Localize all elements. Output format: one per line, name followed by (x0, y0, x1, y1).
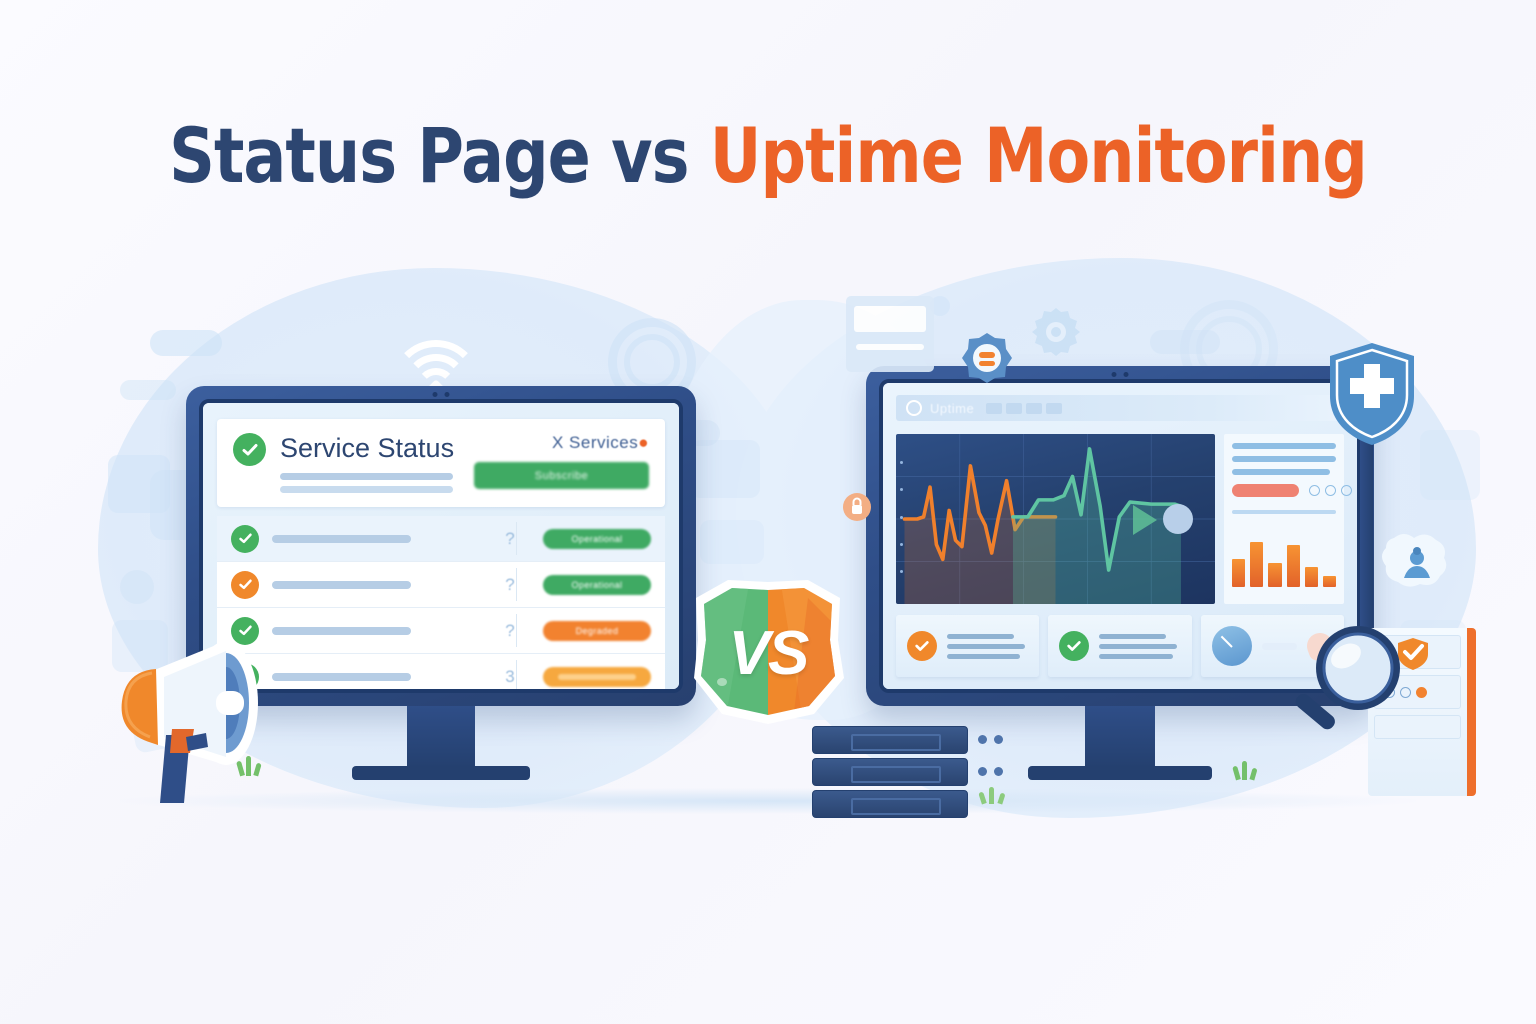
monitor-neck (407, 706, 475, 768)
check-circle-icon (233, 433, 266, 466)
alert-row (1232, 482, 1336, 500)
status-dots (1309, 485, 1352, 496)
skeleton-line (1232, 469, 1330, 475)
check-circle-icon (907, 631, 937, 661)
skeleton-line (280, 473, 453, 480)
check-circle-icon (231, 571, 259, 599)
alert-bar (1232, 484, 1299, 497)
axis-tick (900, 570, 903, 573)
check-circle-icon (1059, 631, 1089, 661)
shield-plus-icon (1326, 340, 1418, 448)
circle-icon (906, 400, 922, 416)
grass-decor (1232, 760, 1262, 780)
status-card[interactable] (1048, 615, 1191, 677)
row-label-skeleton (272, 581, 477, 589)
monitor-neck (1085, 706, 1155, 768)
skeleton-line (280, 486, 453, 493)
monitor-base (352, 766, 530, 780)
monitor-camera (1112, 372, 1129, 377)
dashboard-body (896, 434, 1344, 604)
status-page-header: Service Status X Services● Subscribe (217, 419, 665, 507)
top-bar-blocks (986, 403, 1062, 414)
card-text-skeleton (947, 629, 1028, 664)
axis-tick (900, 543, 903, 546)
title-part-status-page: Status Page (169, 111, 590, 200)
axis-tick (900, 516, 903, 519)
title-part-uptime-monitoring: Uptime Monitoring (710, 111, 1367, 200)
row-divider (516, 568, 517, 601)
row-divider (516, 522, 517, 555)
service-status-heading: Service Status (280, 435, 460, 462)
card-text-skeleton (1099, 629, 1180, 664)
brand-prefix: X (552, 433, 564, 452)
doc-line (856, 344, 924, 350)
page-title: Status Page vs Uptime Monitoring (54, 118, 1482, 194)
row-value: ? (490, 575, 530, 595)
row-value: ? (490, 529, 530, 549)
brand-label: X Services● (474, 433, 649, 453)
megaphone-icon (60, 625, 320, 815)
status-page-brand-block: X Services● Subscribe (474, 431, 649, 489)
document-card-decor (846, 296, 934, 372)
cloud-silhouette (1150, 330, 1220, 354)
chart-marker-dot (1163, 504, 1193, 534)
monitoring-dashboard-screen: Uptime (883, 383, 1357, 689)
check-circle-icon (231, 525, 259, 553)
status-badge (543, 667, 651, 687)
settings-badge-icon (959, 330, 1015, 386)
server-unit (812, 726, 968, 754)
gauge-icon (1212, 626, 1252, 666)
row-label-skeleton (272, 535, 477, 543)
row-divider (516, 614, 517, 647)
server-unit (812, 758, 968, 786)
mini-bar-chart (1232, 525, 1336, 587)
brand-text: Services (569, 433, 638, 452)
dashboard-cards (896, 615, 1344, 677)
table-row[interactable]: ? Operational (217, 562, 665, 608)
status-page-heading-block: Service Status (280, 431, 460, 493)
skeleton-line (1232, 443, 1336, 449)
monitor-base (1028, 766, 1212, 780)
skeleton-line (1232, 510, 1336, 514)
row-value: ? (490, 621, 530, 641)
status-badge: Operational (543, 529, 651, 549)
dashboard-top-bar: Uptime (896, 395, 1344, 421)
status-badge: Degraded (543, 621, 651, 641)
cloud-silhouette (120, 380, 176, 400)
dashboard-side-panel (1224, 434, 1344, 604)
uptime-line-chart (896, 434, 1215, 604)
decor-shape (1420, 430, 1480, 500)
doc-line (854, 306, 926, 332)
magnifying-glass-icon (1288, 620, 1406, 746)
subscribe-button[interactable]: Subscribe (474, 462, 649, 489)
row-value: 3 (490, 667, 530, 687)
row-divider (516, 660, 517, 693)
illustration-canvas: Status Page vs Uptime Monitoring (0, 0, 1536, 1024)
table-row[interactable]: ? Operational (217, 516, 665, 562)
skeleton-line (1232, 456, 1336, 462)
gear-icon (1030, 306, 1082, 358)
person-badge-icon (1380, 532, 1454, 598)
play-triangle-icon[interactable] (1133, 505, 1157, 535)
title-part-vs: vs (611, 111, 688, 200)
monitor-camera (433, 392, 450, 397)
server-stack-icon (812, 726, 1002, 826)
vs-badge: VS (688, 578, 848, 728)
server-unit (812, 790, 968, 818)
cloud-silhouette (150, 330, 222, 356)
dashboard-label: Uptime (930, 401, 974, 416)
status-card[interactable] (896, 615, 1039, 677)
decor-shape (120, 570, 154, 604)
status-badge: Operational (543, 575, 651, 595)
decor-shape (700, 520, 764, 564)
vs-label: VS (688, 578, 848, 728)
decor-shape (690, 440, 760, 498)
lock-icon (843, 490, 871, 524)
